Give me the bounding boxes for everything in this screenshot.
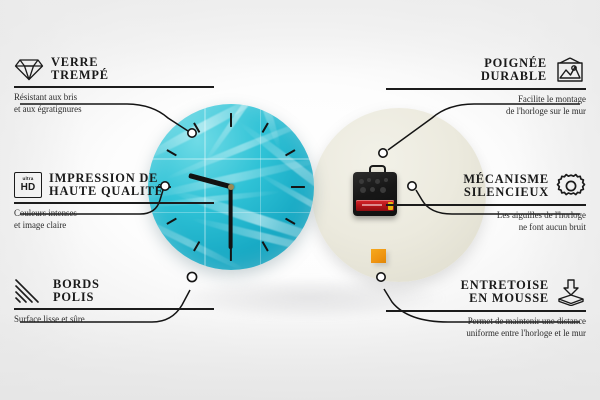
callout-desc-line-2: de l'horloge sur le mur [386, 105, 586, 118]
callout-desc-line-1: Couleurs intenses [14, 207, 214, 220]
callout-desc-line-2: ne font aucun bruit [386, 221, 586, 234]
callout-rule [14, 86, 214, 88]
callout-title-line-2: HAUTE QUALITÉ [49, 185, 164, 198]
callout-title-line-2: SILENCIEUX [463, 186, 549, 199]
ultra-hd-badge-icon: ultra HD [14, 172, 42, 198]
gear-icon [556, 172, 586, 200]
callout-rule [386, 204, 586, 206]
callout-rule [14, 202, 214, 204]
clock-hanger-tab [369, 165, 386, 176]
callout-bords-polis[interactable]: BORDS POLIS Surface lisse et sûre [14, 278, 214, 325]
callout-desc-line-1: Surface lisse et sûre [14, 313, 214, 326]
callout-title-line-2: TREMPÉ [51, 69, 109, 82]
callout-title-line-2: DURABLE [481, 70, 547, 83]
callout-mecanisme-silencieux[interactable]: MÉCANISME SILENCIEUX Les aiguilles de l'… [386, 172, 586, 234]
callout-desc-line-2: et image claire [14, 219, 214, 232]
picture-hanger-icon [554, 56, 586, 84]
callout-desc-line-2: et aux égratignures [14, 103, 214, 116]
clock-center-cap [228, 184, 234, 190]
callout-entretoise-en-mousse[interactable]: ENTRETOISE EN MOUSSE Permet de maintenir… [386, 278, 586, 340]
polished-edge-stripes-icon [14, 278, 46, 304]
callout-desc-line-1: Les aiguilles de l'horloge [386, 209, 586, 222]
callout-rule [14, 308, 214, 310]
callout-desc-line-1: Facilite le montage [386, 93, 586, 106]
foam-spacer [371, 249, 386, 263]
callout-rule [386, 310, 586, 312]
clock-minute-hand [229, 187, 233, 249]
callout-title-line-2: POLIS [53, 291, 100, 304]
callout-desc-line-1: Résistant aux bris [14, 91, 214, 104]
callout-verre-trempe[interactable]: VERRE TREMPÉ Résistant aux bris et aux é… [14, 56, 214, 116]
diamond-icon [14, 56, 44, 82]
callout-impression-haute-qualite[interactable]: ultra HD IMPRESSION DE HAUTE QUALITÉ Cou… [14, 172, 214, 232]
callout-title-line-2: EN MOUSSE [461, 292, 549, 305]
callout-desc-line-1: Permet de maintenir une distance [386, 315, 586, 328]
callout-poignee-durable[interactable]: POIGNÉE DURABLE Facilite le montage de l… [386, 56, 586, 118]
callout-rule [386, 88, 586, 90]
callout-desc-line-2: uniforme entre l'horloge et le mur [386, 327, 586, 340]
ultra-hd-badge-bottom: HD [21, 183, 36, 193]
arrow-down-onto-pad-icon [556, 278, 586, 306]
